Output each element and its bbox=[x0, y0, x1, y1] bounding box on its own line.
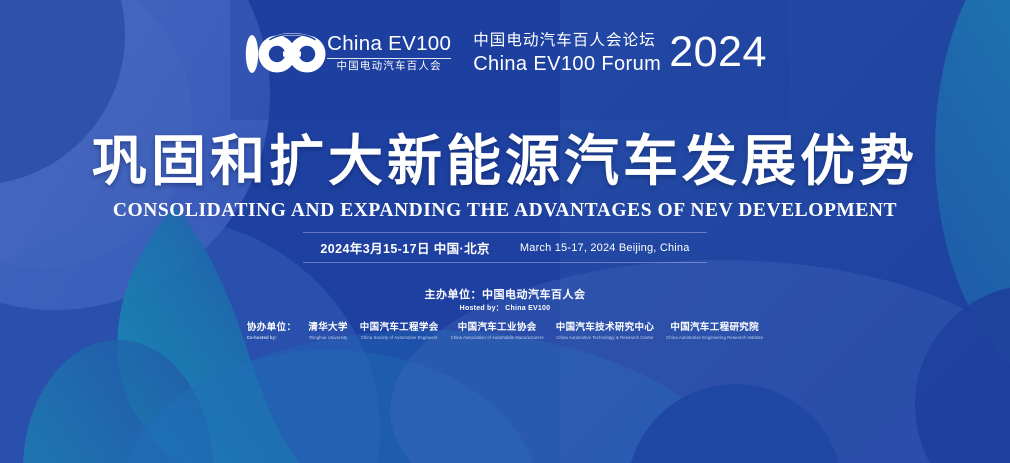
cohost-label-en: Co-hosted by： bbox=[247, 335, 280, 342]
header-lockup: China EV100 中国电动汽车百人会 中国电动汽车百人会论坛 China … bbox=[0, 27, 1010, 81]
cohost-item-cn: 中国汽车工程研究院 bbox=[670, 321, 759, 335]
forum-name-en: China EV100 Forum bbox=[473, 52, 661, 77]
date-location-cn: 2024年3月15-17日 中国·北京 bbox=[320, 238, 489, 257]
cohost-label: 协办单位： Co-hosted by： bbox=[247, 321, 297, 341]
cohost-item-cn: 清华大学 bbox=[308, 321, 347, 335]
conference-banner: China EV100 中国电动汽车百人会 中国电动汽车百人会论坛 China … bbox=[0, 0, 1010, 463]
brand-name-cn: 中国电动汽车百人会 bbox=[336, 61, 441, 73]
cohost-item-en: China Automotive Engineering Research In… bbox=[666, 335, 763, 342]
main-title-en: CONSOLIDATING AND EXPANDING THE ADVANTAG… bbox=[0, 200, 1010, 222]
cohost-item: 中国汽车工程学会 China Society of Automotive Eng… bbox=[360, 321, 439, 341]
cohost-item: 清华大学 Tsinghua University bbox=[308, 321, 347, 341]
date-location-en: March 15-17, 2024 Beijing, China bbox=[520, 242, 690, 254]
brand-wordmark: China EV100 中国电动汽车百人会 bbox=[327, 33, 451, 75]
china-ev100-logo-icon bbox=[243, 27, 327, 81]
host-cn: 主办单位：中国电动汽车百人会 bbox=[0, 288, 1010, 304]
forum-name-cn: 中国电动汽车百人会论坛 bbox=[473, 31, 661, 52]
forum-year: 2024 bbox=[669, 31, 767, 77]
cohost-item-cn: 中国汽车工业协会 bbox=[458, 321, 537, 335]
brand-rule bbox=[327, 58, 451, 59]
cohost-item-cn: 中国汽车技术研究中心 bbox=[556, 321, 655, 335]
host-en: Hosted by： China EV100 bbox=[0, 304, 1010, 315]
main-title-cn: 巩固和扩大新能源汽车发展优势 bbox=[0, 131, 1010, 193]
cohost-item: 中国汽车工业协会 China Association of Automobile… bbox=[451, 321, 544, 341]
cohost-item-cn: 中国汽车工程学会 bbox=[360, 321, 439, 335]
cohost-block: 协办单位： Co-hosted by： 清华大学 Tsinghua Univer… bbox=[0, 321, 1010, 341]
forum-title-block: 中国电动汽车百人会论坛 China EV100 Forum 2024 bbox=[473, 31, 767, 77]
brand-name-en: China EV100 bbox=[327, 33, 451, 55]
cohost-item-en: China Association of Automobile Manufact… bbox=[451, 335, 544, 342]
host-block: 主办单位：中国电动汽车百人会 Hosted by： China EV100 bbox=[0, 288, 1010, 314]
cohost-item-en: Tsinghua University bbox=[309, 335, 348, 342]
cohost-item: 中国汽车技术研究中心 China Automotive Technology &… bbox=[556, 321, 655, 341]
date-location-bar: 2024年3月15-17日 中国·北京 March 15-17, 2024 Be… bbox=[303, 232, 707, 263]
cohost-label-cn: 协办单位： bbox=[247, 321, 297, 335]
cohost-item: 中国汽车工程研究院 China Automotive Engineering R… bbox=[666, 321, 763, 341]
cohost-item-en: China Society of Automotive Engineers bbox=[361, 335, 438, 342]
cohost-item-en: China Automotive Technology & Research C… bbox=[556, 335, 653, 342]
